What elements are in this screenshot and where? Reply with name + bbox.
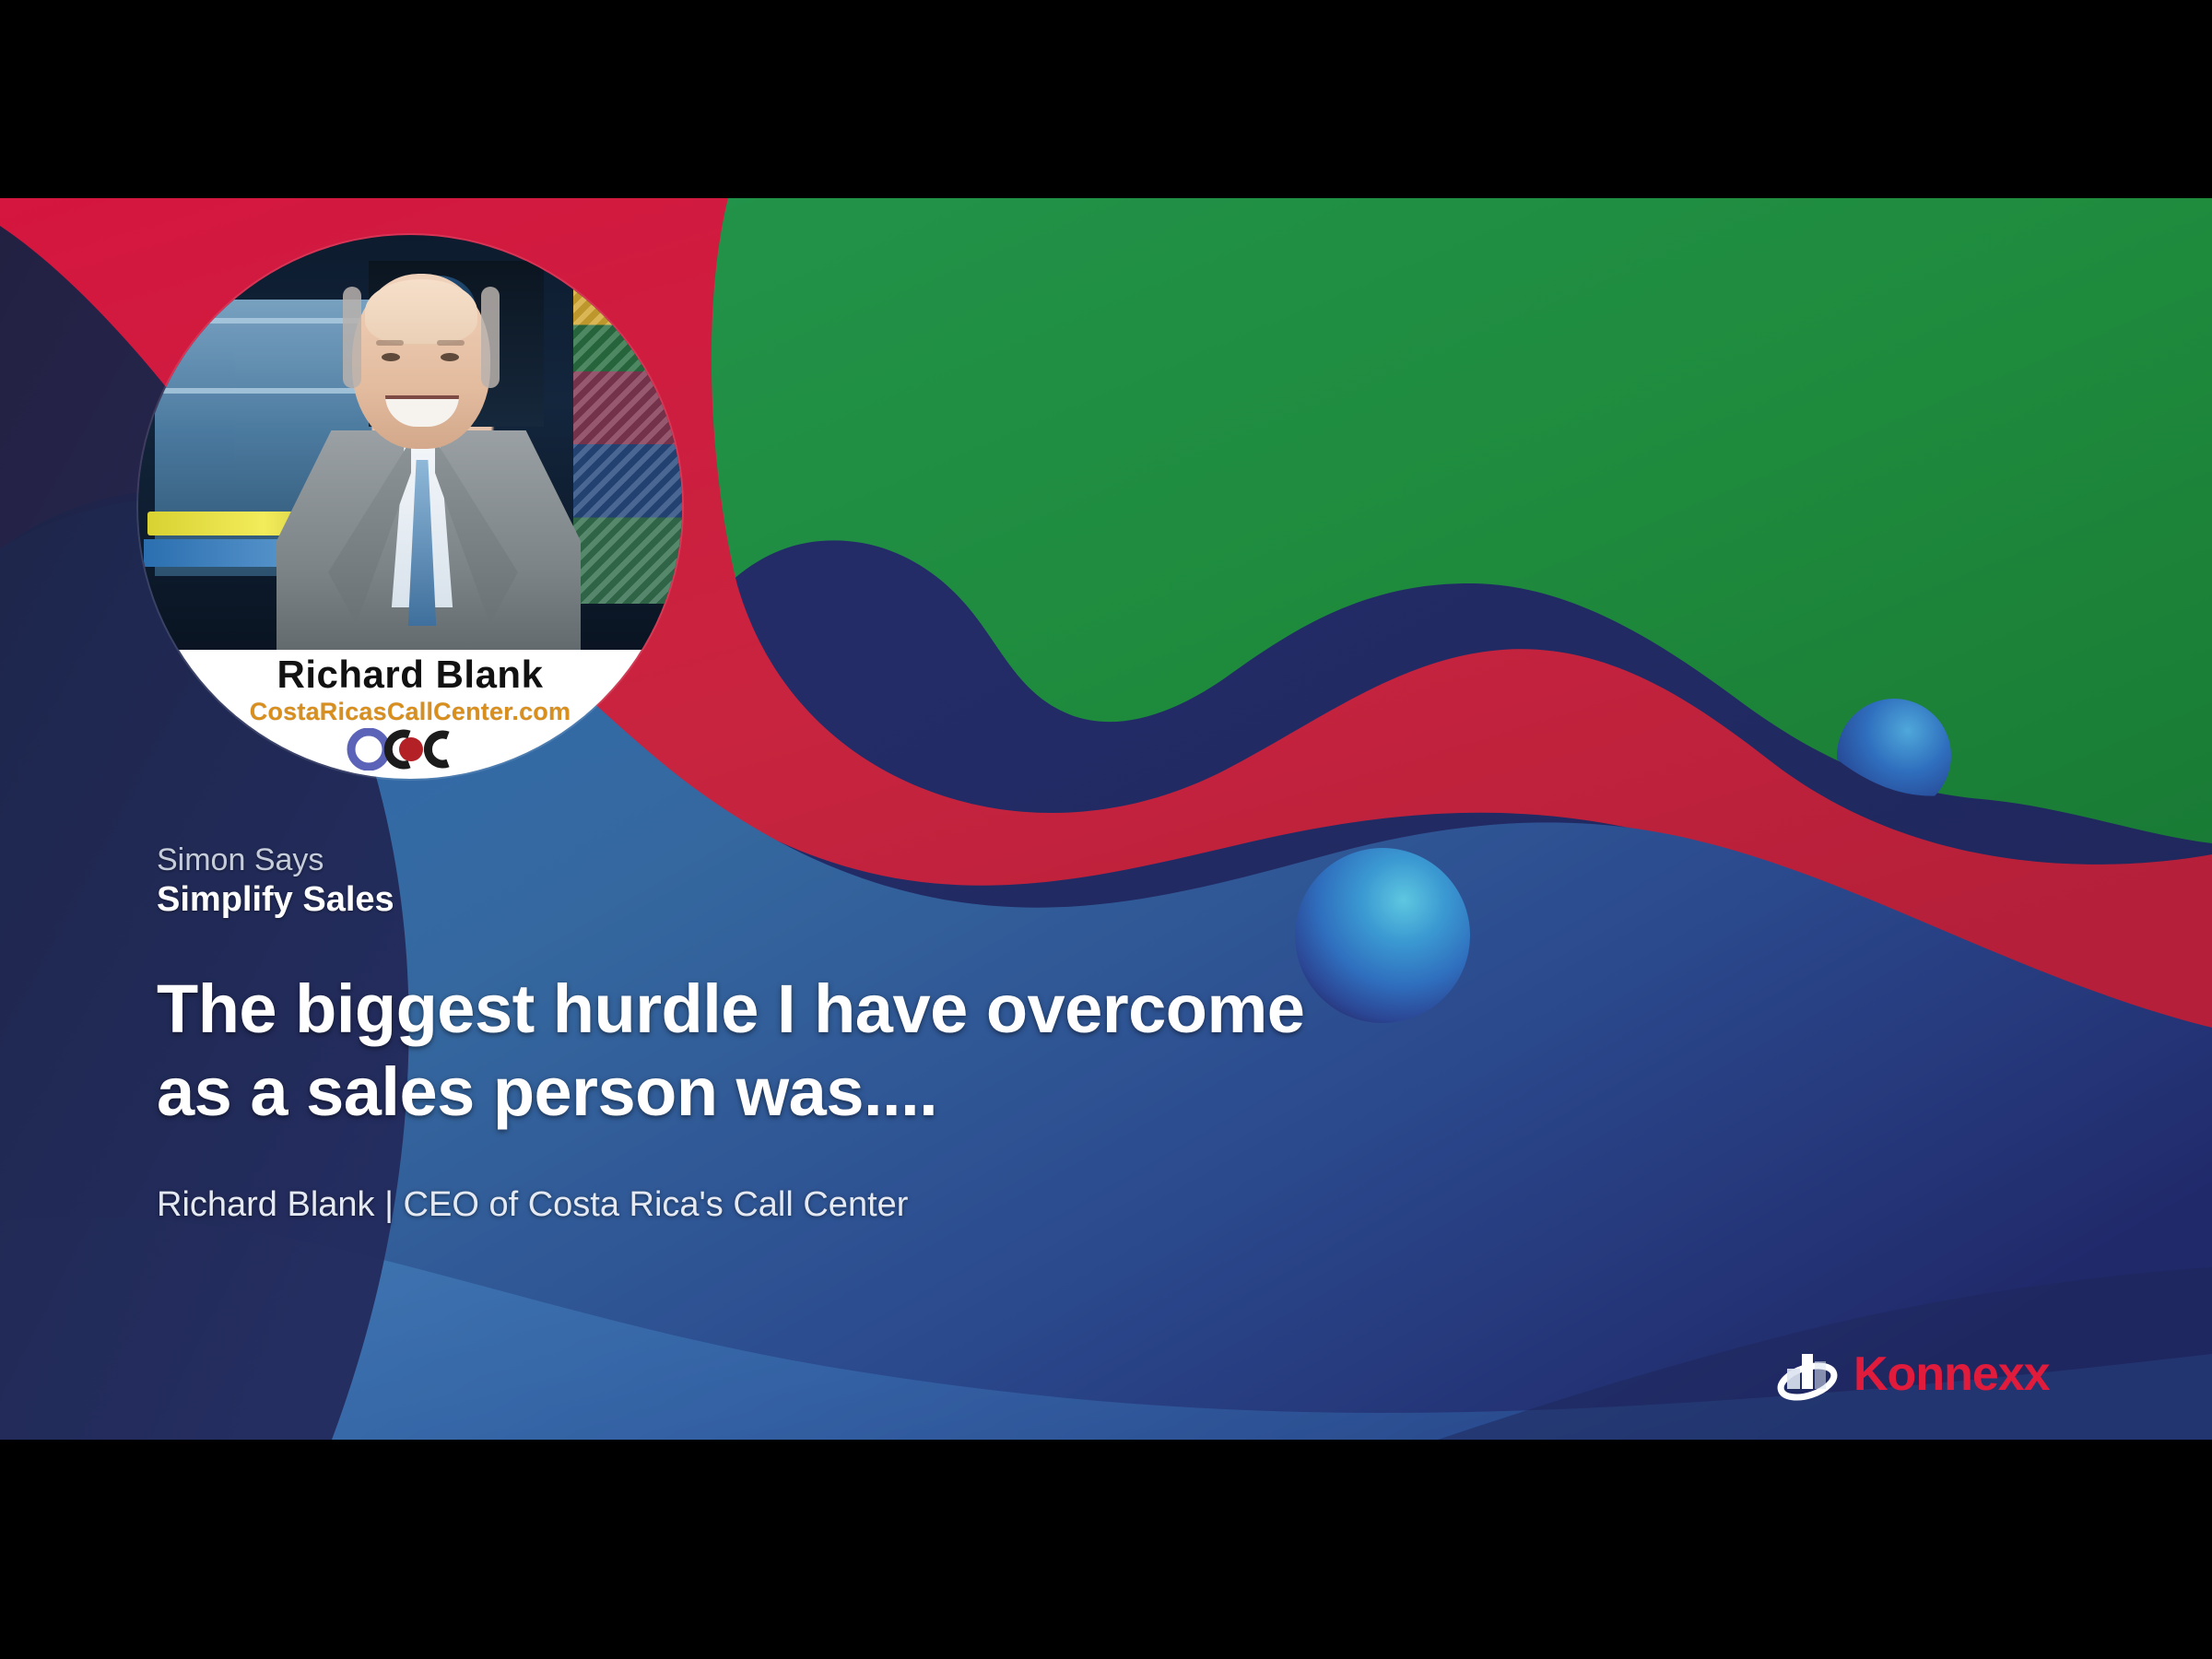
photo-hair-left [343, 287, 361, 388]
photo-hair-right [481, 287, 500, 388]
photo-head [352, 274, 490, 449]
avatar-name: Richard Blank [277, 655, 544, 694]
avatar: Richard Blank CostaRicasCallCenter.com [138, 235, 682, 779]
avatar-caption: Richard Blank CostaRicasCallCenter.com [138, 650, 682, 779]
attribution: Richard Blank | CEO of Costa Rica's Call… [157, 1186, 1539, 1225]
letterbox-top [0, 0, 2212, 198]
konnexx-wordmark: Konnexx [1853, 1350, 2050, 1398]
photo-smile [385, 395, 459, 427]
episode-subtitle: Simplify Sales [157, 881, 1539, 920]
avatar-photo [138, 235, 682, 650]
konnexx-mark-icon [1774, 1341, 1841, 1407]
photo-eye-left [382, 353, 400, 361]
show-name: Simon Says [157, 843, 1539, 877]
photo-background-artwork [573, 272, 682, 604]
photo-brow-right [437, 340, 465, 346]
headline-line-1: The biggest hurdle I have overcome [157, 968, 1539, 1051]
letterbox-bottom [0, 1440, 2212, 1659]
konnexx-logo: Konnexx [1774, 1335, 2106, 1414]
ccc-logo-icon [341, 728, 479, 771]
headline-line-2: as a sales person was.... [157, 1051, 1539, 1134]
avatar-website: CostaRicasCallCenter.com [250, 700, 571, 724]
video-frame: Richard Blank CostaRicasCallCenter.com S… [0, 0, 2212, 1659]
photo-eye-right [441, 353, 459, 361]
title-text-block: Simon Says Simplify Sales The biggest hu… [157, 843, 1539, 1225]
photo-brow-left [376, 340, 404, 346]
headline: The biggest hurdle I have overcome as a … [157, 968, 1539, 1135]
